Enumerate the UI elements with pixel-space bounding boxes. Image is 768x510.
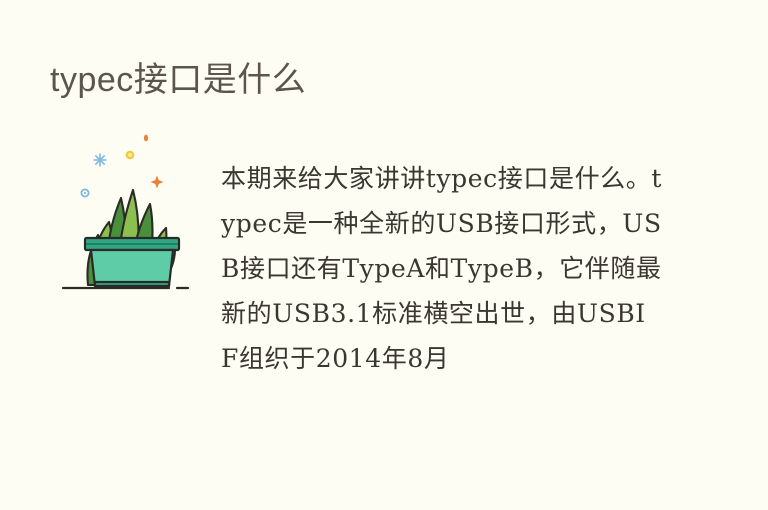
page-title: typec接口是什么 — [50, 58, 306, 102]
flower-sparkle-icon — [151, 176, 164, 189]
plant-pot — [85, 238, 179, 286]
potted-plant-illustration — [55, 132, 215, 297]
ring-sparkle-icon — [81, 189, 88, 196]
article-body-text: 本期来给大家讲讲typec接口是什么。typec是一种全新的USB接口形式，US… — [221, 156, 663, 381]
dot-sparkle-icon — [126, 151, 135, 160]
page-root: typec接口是什么 — [0, 0, 768, 510]
snowflake-sparkle-icon — [94, 154, 106, 166]
sparkle-group — [81, 135, 163, 197]
small-dot-sparkle-icon — [144, 135, 148, 142]
